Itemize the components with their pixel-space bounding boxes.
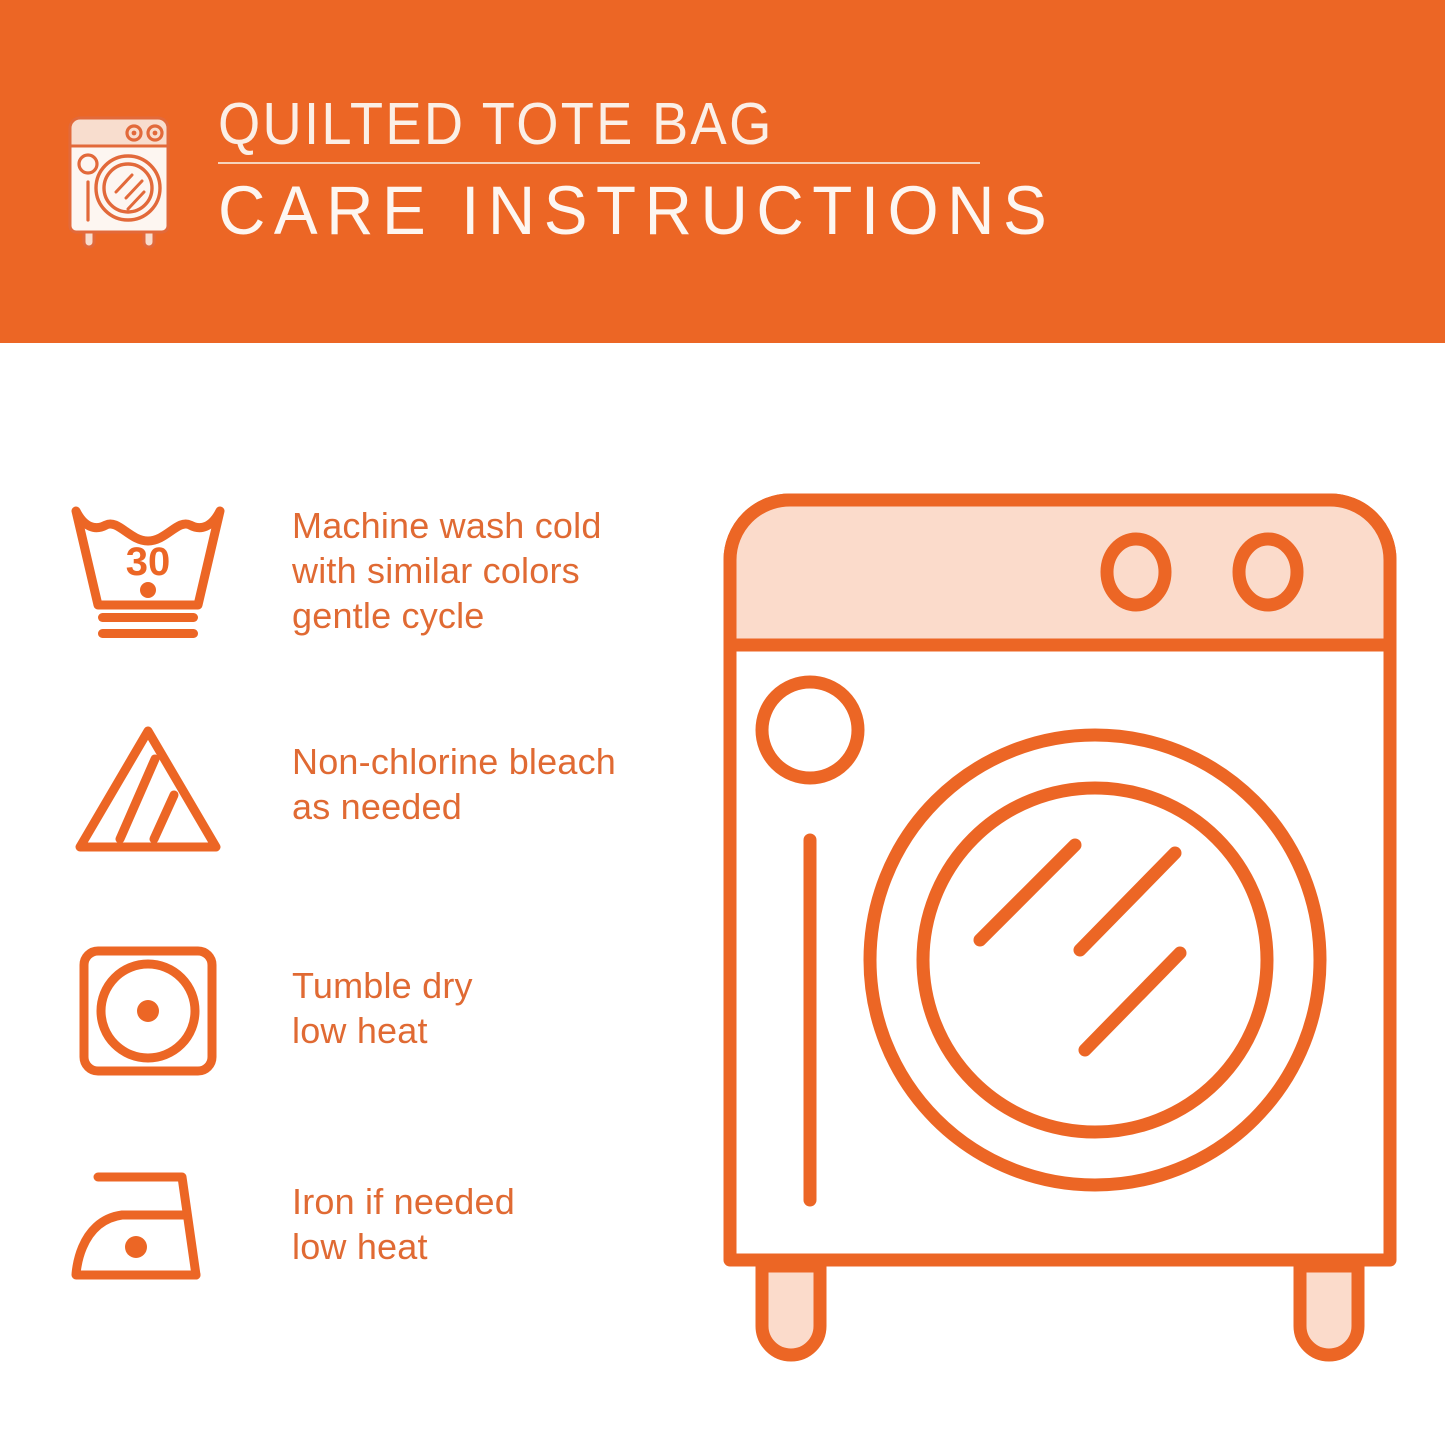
care-row: 30 Machine wash cold with similar colors… [62,493,682,645]
washing-machine-illustration [700,440,1420,1400]
care-instruction-list: 30 Machine wash cold with similar colors… [0,343,700,1445]
page-title: QUILTED TOTE BAG [218,92,1029,156]
wash-temperature-value: 30 [126,540,171,584]
care-label: Non-chlorine bleach as needed [292,713,616,829]
care-label: Machine wash cold with similar colors ge… [292,493,602,638]
washing-machine-icon [62,96,180,251]
tumble-dry-low-symbol [62,935,234,1087]
washer-leg-right [1300,1266,1358,1355]
care-row: Tumble dry low heat [62,935,682,1087]
care-label: Tumble dry low heat [292,935,473,1053]
washer-leg-left [762,1266,820,1355]
iron-low-heat-symbol [62,1153,234,1305]
care-row: Non-chlorine bleach as needed [62,713,682,865]
care-instructions-page: QUILTED TOTE BAG CARE INSTRUCTIONS 30 [0,0,1445,1445]
non-chlorine-bleach-symbol [62,713,234,865]
header-titles: QUILTED TOTE BAG CARE INSTRUCTIONS [218,92,1099,248]
care-label: Iron if needed low heat [292,1153,515,1269]
page-subtitle: CARE INSTRUCTIONS [218,174,1055,248]
machine-wash-cold-gentle-symbol: 30 [62,493,234,645]
header-content: QUILTED TOTE BAG CARE INSTRUCTIONS [62,92,1099,251]
header-band: QUILTED TOTE BAG CARE INSTRUCTIONS [0,0,1445,343]
care-row: Iron if needed low heat [62,1153,682,1305]
title-divider [218,162,980,164]
